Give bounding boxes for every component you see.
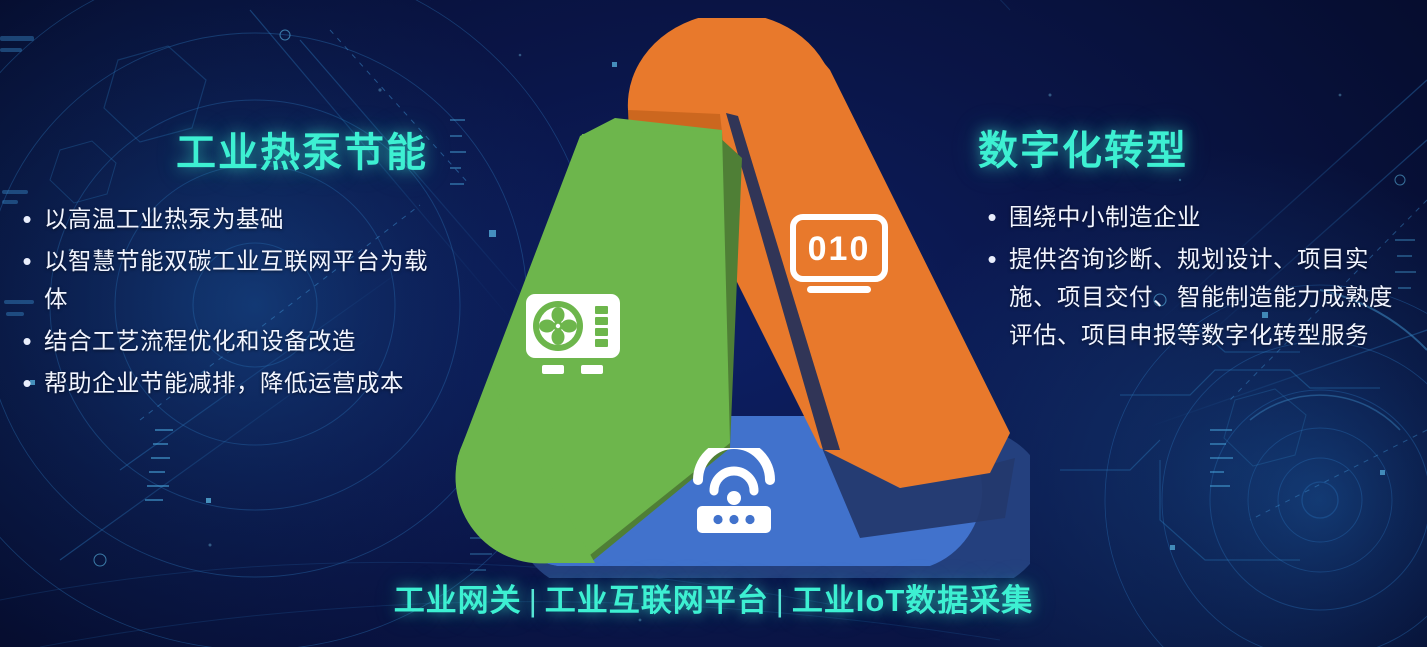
- caption-separator: |: [769, 583, 792, 618]
- bullet-text: 结合工艺流程优化和设备改造: [44, 322, 356, 360]
- caption-separator: |: [522, 583, 545, 618]
- list-item: • 结合工艺流程优化和设备改造: [10, 322, 460, 360]
- list-item: • 以高温工业热泵为基础: [10, 200, 460, 238]
- monitor-binary-text: 010: [808, 230, 871, 268]
- bullet-text: 帮助企业节能减排，降低运营成本: [44, 364, 404, 402]
- binary-monitor-icon: 010: [789, 214, 889, 298]
- recycle-triangle-diagram: 010: [430, 18, 1030, 578]
- bullet-text: 提供咨询诊断、规划设计、项目实施、项目交付、智能制造能力成熟度评估、项目申报等数…: [1009, 240, 1409, 354]
- bullet-text: 以高温工业热泵为基础: [44, 200, 284, 238]
- list-item: • 提供咨询诊断、规划设计、项目实施、项目交付、智能制造能力成熟度评估、项目申报…: [975, 240, 1427, 354]
- bullet-marker-icon: •: [10, 364, 44, 402]
- list-item: • 帮助企业节能减排，降低运营成本: [10, 364, 460, 402]
- wifi-router-icon: [688, 448, 780, 536]
- caption-bar: 工业网关|工业互联网平台|工业IoT数据采集: [0, 575, 1427, 620]
- left-panel-heading: 工业热泵节能: [176, 120, 428, 178]
- list-item: • 围绕中小制造企业: [975, 198, 1427, 236]
- heat-pump-icon: [524, 292, 622, 378]
- list-item: • 以智慧节能双碳工业互联网平台为载体: [10, 242, 460, 318]
- caption-item-gateway: 工业网关: [394, 583, 522, 618]
- left-panel-bullet-list: • 以高温工业热泵为基础 • 以智慧节能双碳工业互联网平台为载体 • 结合工艺流…: [10, 200, 460, 406]
- bullet-marker-icon: •: [10, 200, 44, 238]
- bullet-marker-icon: •: [10, 242, 44, 280]
- bullet-text: 以智慧节能双碳工业互联网平台为载体: [44, 242, 436, 318]
- slide-canvas: 工业热泵节能 • 以高温工业热泵为基础 • 以智慧节能双碳工业互联网平台为载体 …: [0, 0, 1427, 647]
- bullet-marker-icon: •: [10, 322, 44, 360]
- caption-item-platform: 工业互联网平台: [545, 583, 769, 618]
- right-panel-bullet-list: • 围绕中小制造企业 • 提供咨询诊断、规划设计、项目实施、项目交付、智能制造能…: [975, 198, 1427, 358]
- caption-item-iot: 工业IoT数据采集: [792, 583, 1033, 618]
- bullet-text: 围绕中小制造企业: [1009, 198, 1201, 236]
